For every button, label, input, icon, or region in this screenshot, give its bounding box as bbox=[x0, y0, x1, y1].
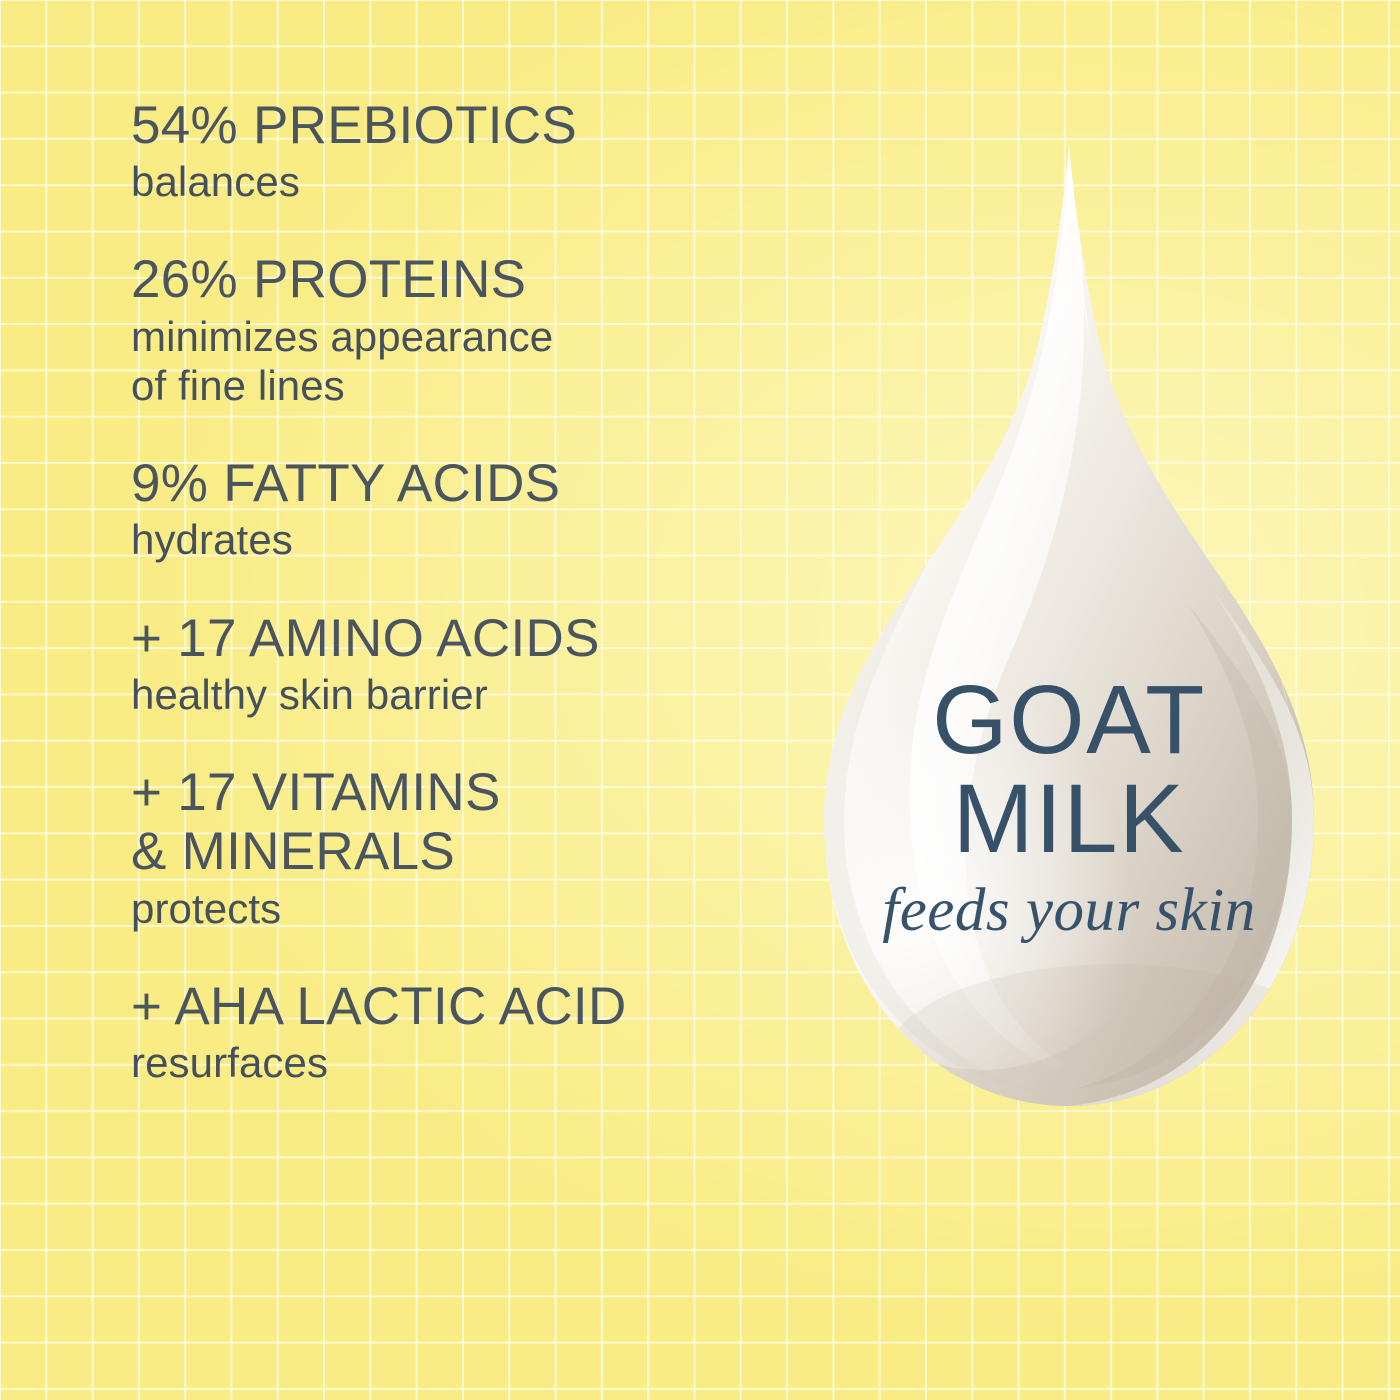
benefit-item-fatty-acids: 9% FATTY ACIDS hydrates bbox=[131, 454, 791, 564]
droplet-body bbox=[786, 130, 1352, 1130]
benefit-headline: 26% PROTEINS bbox=[131, 250, 791, 309]
benefit-description: resurfaces bbox=[131, 1038, 791, 1087]
milk-droplet-illustration bbox=[786, 130, 1352, 1130]
benefit-headline: + 17 VITAMINS & MINERALS bbox=[131, 763, 791, 882]
benefit-headline: + 17 AMINO ACIDS bbox=[131, 609, 791, 668]
goat-milk-ingredient-infographic: 54% PREBIOTICS balances 26% PROTEINS min… bbox=[0, 0, 1400, 1400]
benefit-description: minimizes appearance of fine lines bbox=[131, 312, 791, 410]
benefit-item-proteins: 26% PROTEINS minimizes appearance of fin… bbox=[131, 250, 791, 410]
benefit-description: hydrates bbox=[131, 515, 791, 564]
benefit-item-aha-lactic-acid: + AHA LACTIC ACID resurfaces bbox=[131, 977, 791, 1087]
benefit-description: balances bbox=[131, 157, 791, 206]
milk-droplet-icon bbox=[786, 130, 1352, 1130]
benefit-item-vitamins-minerals: + 17 VITAMINS & MINERALS protects bbox=[131, 763, 791, 933]
benefit-description: healthy skin barrier bbox=[131, 670, 791, 719]
benefit-item-amino-acids: + 17 AMINO ACIDS healthy skin barrier bbox=[131, 609, 791, 719]
benefit-description: protects bbox=[131, 884, 791, 933]
benefit-headline: 54% PREBIOTICS bbox=[131, 96, 791, 155]
benefits-list: 54% PREBIOTICS balances 26% PROTEINS min… bbox=[131, 96, 791, 1087]
benefit-item-prebiotics: 54% PREBIOTICS balances bbox=[131, 96, 791, 206]
benefit-headline: + AHA LACTIC ACID bbox=[131, 977, 791, 1036]
benefit-headline: 9% FATTY ACIDS bbox=[131, 454, 791, 513]
